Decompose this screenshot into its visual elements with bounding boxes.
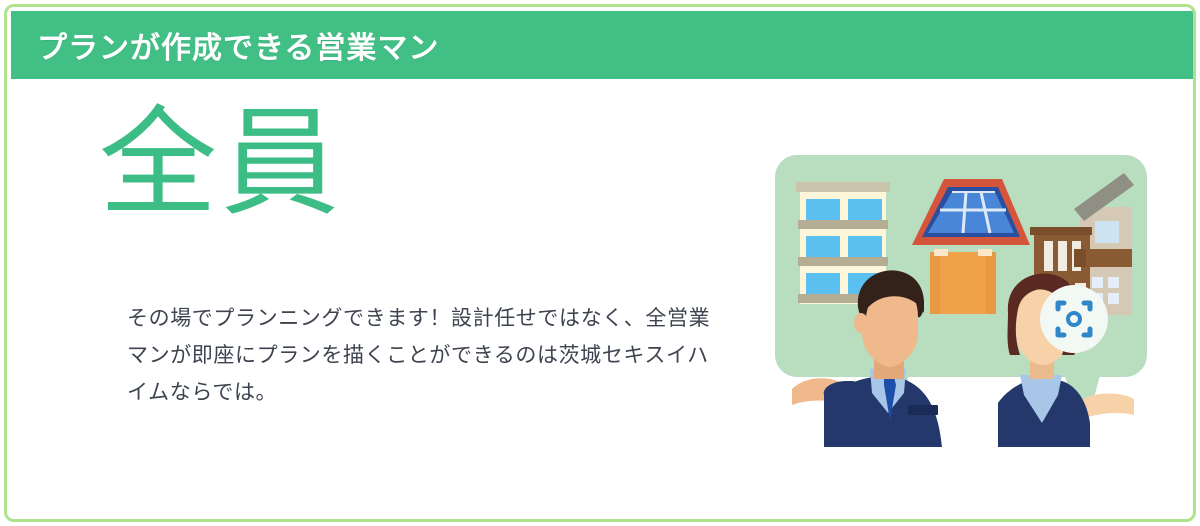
lead-paragraph: その場でプランニングできます！設計任せではなく、全営業マンが即座にプランを描くこ… xyxy=(127,301,727,411)
feature-card: プランが作成できる営業マン 全員 その場でプランニングできます！設計任せではなく… xyxy=(4,4,1196,522)
focus-scan-badge xyxy=(1040,285,1108,353)
headline-text: 全員 xyxy=(99,103,343,227)
illustration xyxy=(762,137,1162,517)
card-body: 全員 その場でプランニングできます！設計任せではなく、全営業マンが即座にプランを… xyxy=(7,79,1193,522)
text-column: 全員 その場でプランニングできます！設計任せではなく、全営業マンが即座にプランを… xyxy=(7,79,747,522)
section-title: プランが作成できる営業マン xyxy=(37,23,439,67)
section-header-banner: プランが作成できる営業マン xyxy=(11,11,1193,79)
